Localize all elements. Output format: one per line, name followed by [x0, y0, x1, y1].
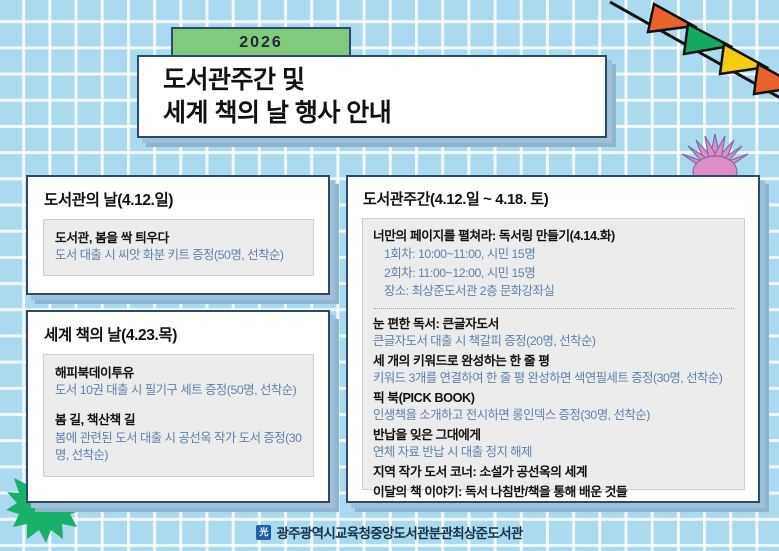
event-name: 봄 길, 책산책 길 [55, 411, 303, 429]
card-library-week: 도서관주간(4.12.일 ~ 4.18. 토) 너만의 페이지를 펼쳐라: 독서… [346, 175, 760, 503]
event-name: 지역 작가 도서 코너: 소설가 공선옥의 세계 [373, 463, 735, 481]
event-item: 픽 북(PICK BOOK) 인생책을 소개하고 전시하면 롱인덱스 증정(30… [373, 389, 735, 425]
event-sub: 도서 10권 대출 시 필기구 세트 증정(50명, 선착순) [55, 382, 303, 400]
event-item: 도서관, 봄을 싹 틔우다 도서 대출 시 씨앗 화분 키트 증정(50명, 선… [55, 229, 303, 265]
featured-program-detail: 장소: 최상준도서관 2층 문화강좌실 [373, 282, 735, 300]
organization-logo-icon: 光 [256, 525, 271, 540]
poster-title-line-2: 세계 책의 날 행사 안내 [163, 97, 605, 130]
event-sub: 인생책을 소개하고 전시하면 롱인덱스 증정(30명, 선착순) [373, 407, 735, 425]
card-library-day: 도서관의 날(4.12.일) 도서관, 봄을 싹 틔우다 도서 대출 시 씨앗 … [26, 175, 330, 295]
event-name: 이달의 책 이야기: 독서 나침반/책을 통해 배운 것들 [373, 483, 735, 501]
poster-header-card: 도서관주간 및 세계 책의 날 행사 안내 [137, 55, 607, 138]
card-world-book-day-title: 세계 책의 날(4.23.목) [28, 312, 328, 354]
event-sub: 봄에 관련된 도서 대출 시 공선옥 작가 도서 증정(30명, 선착순) [55, 430, 303, 465]
event-item: 봄 길, 책산책 길 봄에 관련된 도서 대출 시 공선옥 작가 도서 증정(3… [55, 411, 303, 465]
event-name: 도서관, 봄을 싹 틔우다 [55, 229, 303, 247]
event-name: 세 개의 키워드로 완성하는 한 줄 평 [373, 352, 735, 370]
event-name: 반납을 잊은 그대에게 [373, 426, 735, 444]
event-sub: 연체 자료 반납 시 대출 정지 해제 [373, 444, 735, 462]
event-item: 반납을 잊은 그대에게 연체 자료 반납 시 대출 정지 해제 [373, 426, 735, 462]
event-item: 지역 작가 도서 코너: 소설가 공선옥의 세계 [373, 463, 735, 481]
card-world-book-day: 세계 책의 날(4.23.목) 해피북데이투유 도서 10권 대출 시 필기구 … [26, 310, 330, 503]
card-library-week-title: 도서관주간(4.12.일 ~ 4.18. 토) [348, 177, 758, 218]
section-divider [374, 308, 734, 309]
event-item: 세 개의 키워드로 완성하는 한 줄 평 키워드 3개를 연결하여 한 줄 평 … [373, 352, 735, 388]
card-world-book-day-content: 해피북데이투유 도서 10권 대출 시 필기구 세트 증정(50명, 선착순) … [43, 354, 314, 477]
event-name: 눈 편한 독서: 큰글자도서 [373, 315, 735, 333]
footer: 光 광주광역시교육청중앙도서관분관최상준도서관 [0, 522, 779, 542]
card-library-week-content: 너만의 페이지를 펼쳐라: 독서링 만들기(4.14.화) 1회차: 10:00… [362, 218, 745, 490]
event-item: 눈 편한 독서: 큰글자도서 큰글자도서 대출 시 책갈피 증정(20명, 선착… [373, 315, 735, 351]
poster-title-line-1: 도서관주간 및 [163, 64, 605, 97]
event-item: 이달의 책 이야기: 독서 나침반/책을 통해 배운 것들 [373, 483, 735, 501]
event-item: 해피북데이투유 도서 10권 대출 시 필기구 세트 증정(50명, 선착순) [55, 364, 303, 400]
featured-program-detail: 2회차: 11:00~12:00, 시민 15명 [373, 264, 735, 282]
card-library-day-title: 도서관의 날(4.12.일) [28, 177, 328, 219]
featured-program-detail: 1회차: 10:00~11:00, 시민 15명 [373, 245, 735, 263]
event-name: 해피북데이투유 [55, 364, 303, 382]
event-sub: 도서 대출 시 씨앗 화분 키트 증정(50명, 선착순) [55, 247, 303, 265]
bunting-decoration [608, 0, 779, 126]
featured-program-name: 너만의 페이지를 펼쳐라: 독서링 만들기(4.14.화) [373, 227, 735, 245]
organization-name: 광주광역시교육청중앙도서관분관최상준도서관 [276, 522, 522, 542]
featured-program: 너만의 페이지를 펼쳐라: 독서링 만들기(4.14.화) 1회차: 10:00… [373, 227, 735, 301]
event-name: 픽 북(PICK BOOK) [373, 389, 735, 407]
card-library-day-content: 도서관, 봄을 싹 틔우다 도서 대출 시 씨앗 화분 키트 증정(50명, 선… [43, 219, 314, 276]
event-sub: 큰글자도서 대출 시 책갈피 증정(20명, 선착순) [373, 333, 735, 351]
event-sub: 키워드 3개를 연결하여 한 줄 평 완성하면 색연필세트 증정(30명, 선착… [373, 370, 735, 388]
